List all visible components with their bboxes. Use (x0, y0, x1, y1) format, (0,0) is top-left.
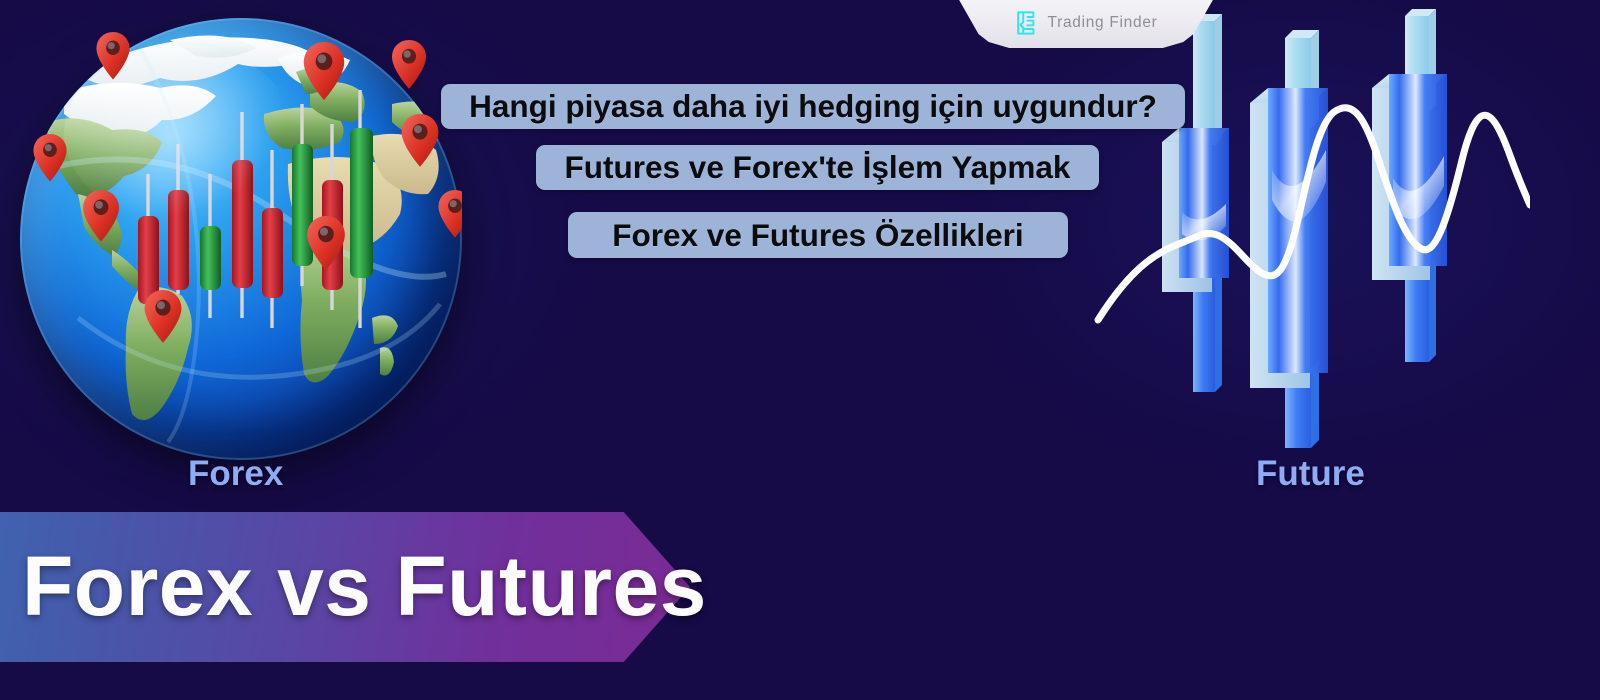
headline-pill-2[interactable]: Futures ve Forex'te İşlem Yapmak (536, 145, 1099, 190)
forex-label: Forex (188, 454, 283, 494)
candle-3 (1372, 9, 1447, 362)
glass-candlestick-graphic (1090, 0, 1530, 460)
trading-finder-logo-icon (1014, 10, 1038, 36)
glass-candles-icon (1090, 0, 1530, 460)
trading-finder-logo-tab[interactable]: Trading Finder (958, 0, 1214, 48)
candle-1 (1162, 14, 1229, 392)
candle-2 (1250, 30, 1328, 448)
brand-name-label: Trading Finder (1047, 14, 1157, 32)
globe-sphere (20, 18, 462, 460)
page-title: Forex vs Futures (22, 527, 707, 645)
future-label: Future (1256, 454, 1365, 494)
banner-canvas: Trading Finder Hangi piyasa daha iyi hed… (0, 0, 1600, 700)
headline-pill-3[interactable]: Forex ve Futures Özellikleri (568, 212, 1068, 258)
headline-pill-1[interactable]: Hangi piyasa daha iyi hedging için uygun… (441, 84, 1185, 129)
globe-candlestick-overlay (20, 18, 462, 460)
globe-graphic (20, 18, 462, 460)
